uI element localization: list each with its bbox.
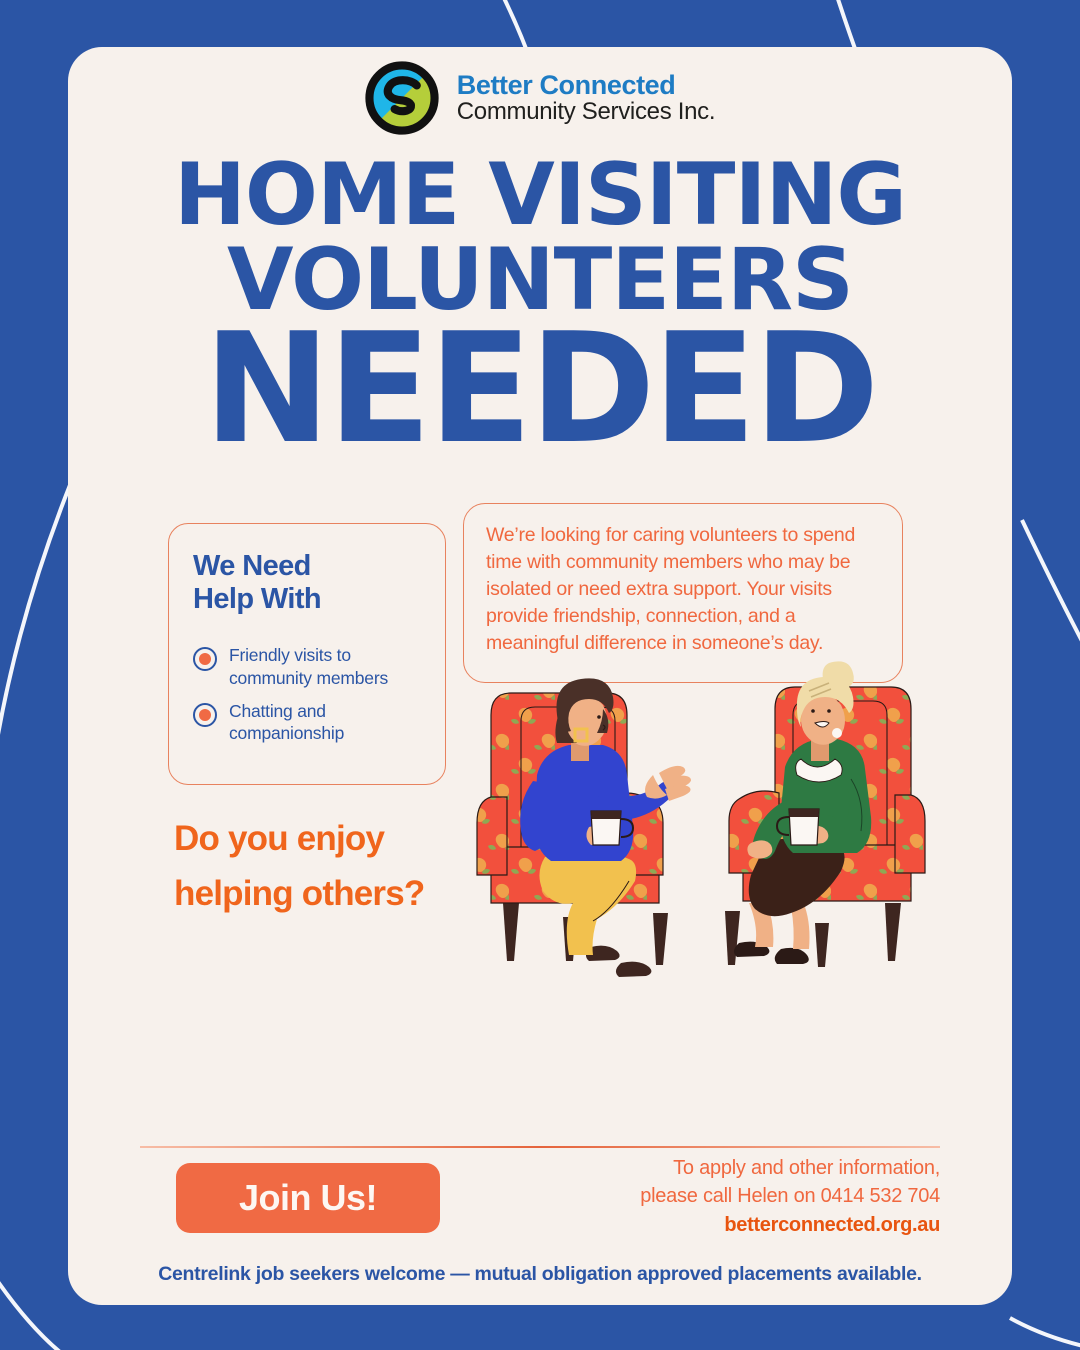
- page-title: HOME VISITING VOLUNTEERS NEEDED: [68, 153, 1012, 459]
- contact-line-2: please call Helen on 0414 532 704: [640, 1183, 940, 1211]
- headline-line-1: HOME VISITING: [68, 153, 1012, 238]
- need-box-title: We Need Help With: [193, 550, 423, 616]
- headline-line-3: NEEDED: [68, 319, 1012, 459]
- centrelink-note: Centrelink job seekers welcome — mutual …: [68, 1263, 1012, 1286]
- poster-card: Better Connected Community Services Inc.…: [68, 47, 1012, 1305]
- footer: Join Us! To apply and other information,…: [68, 1155, 1012, 1305]
- brand-name-block: Better Connected Community Services Inc.: [457, 72, 716, 124]
- two-women-chatting-illustration: [463, 655, 943, 985]
- brand-name-primary: Better Connected: [457, 72, 716, 100]
- we-need-help-with-box: We Need Help With Friendly visits to com…: [168, 523, 446, 785]
- join-us-button[interactable]: Join Us!: [176, 1163, 440, 1233]
- need-box-title-line-1: We Need: [193, 550, 423, 583]
- radio-bullet-icon: [193, 703, 217, 727]
- need-box-title-line-2: Help With: [193, 583, 423, 616]
- brand-name-secondary: Community Services Inc.: [457, 100, 716, 124]
- contact-line-1: To apply and other information,: [640, 1155, 940, 1183]
- need-item-label: Friendly visits to community members: [229, 644, 423, 689]
- description-text: We’re looking for caring volunteers to s…: [486, 522, 880, 657]
- list-item: Friendly visits to community members: [193, 644, 423, 689]
- need-item-label: Chatting and companionship: [229, 700, 423, 745]
- footer-divider: [140, 1146, 940, 1148]
- enjoy-question-text: Do you enjoy helping others?: [174, 811, 474, 922]
- website-link[interactable]: betterconnected.org.au: [640, 1214, 940, 1237]
- main-content: We Need Help With Friendly visits to com…: [68, 459, 1012, 1019]
- better-connected-logo-icon: [365, 61, 439, 135]
- radio-bullet-icon: [193, 647, 217, 671]
- contact-block: To apply and other information, please c…: [640, 1155, 940, 1237]
- list-item: Chatting and companionship: [193, 700, 423, 745]
- need-items-list: Friendly visits to community members Cha…: [193, 644, 423, 745]
- brand-header: Better Connected Community Services Inc.: [68, 61, 1012, 135]
